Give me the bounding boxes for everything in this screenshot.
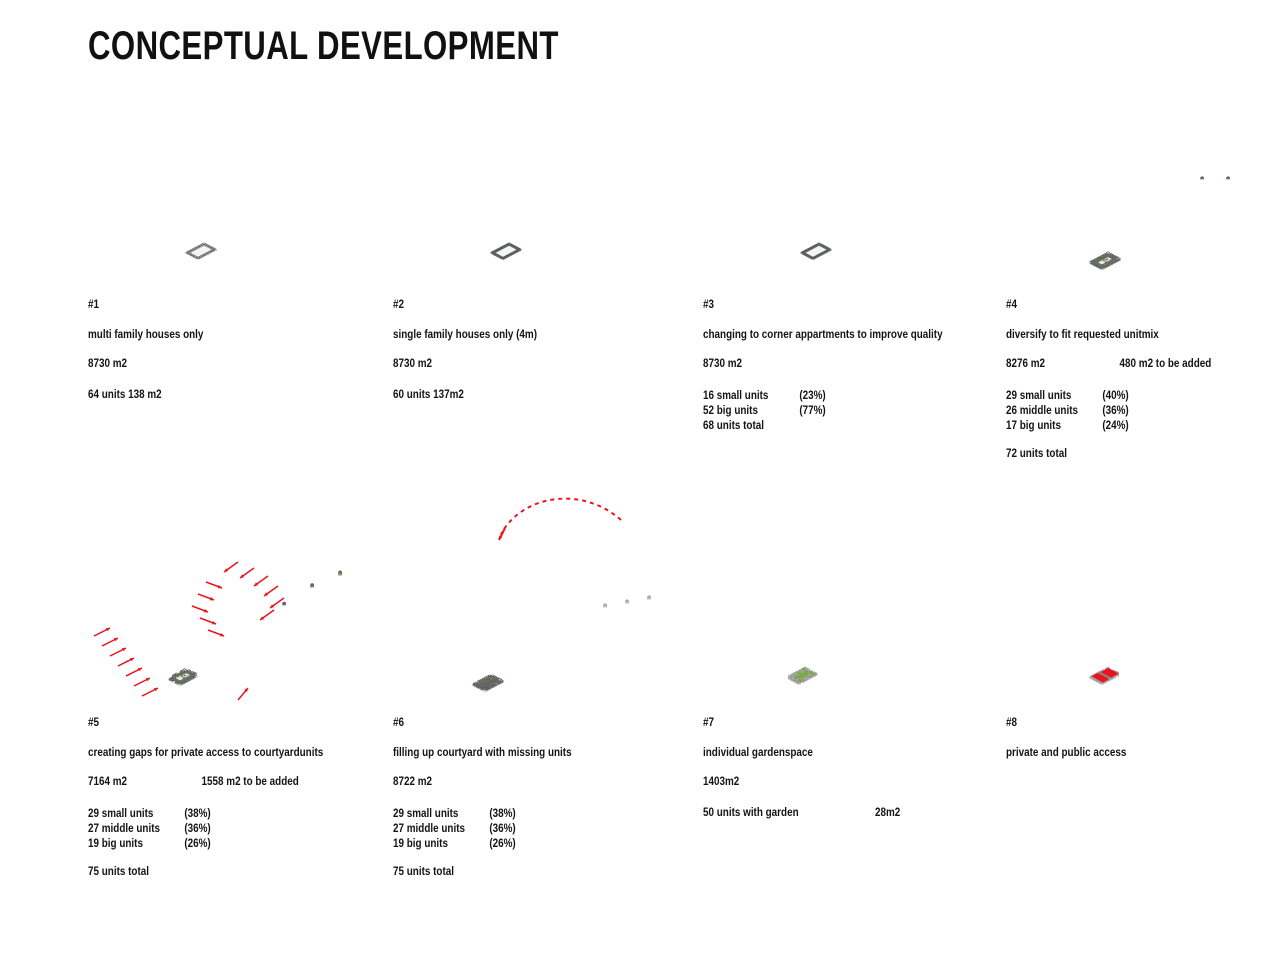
panel-area: 8722 m2 (393, 777, 651, 790)
panel-5: #5 creating gaps for private access to c… (88, 510, 388, 710)
panel-2: #2 single family houses only (4m) 8730 m… (393, 108, 693, 293)
caption-5: #5 creating gaps for private access to c… (88, 718, 388, 879)
panel-description: individual gardenspace (703, 748, 961, 760)
figure-3 (703, 108, 1003, 293)
axon-massing (473, 675, 503, 692)
diagram-access-red-grey (1006, 525, 1280, 710)
satellite-stack (311, 583, 314, 587)
presentation-board: CONCEPTUAL DEVELOPMENT #1 multi family h… (0, 0, 1280, 960)
panel-number: #3 (703, 300, 987, 312)
axon-massing (186, 243, 216, 259)
stat-row: 19 big units (26%) (393, 838, 651, 853)
panel-description: creating gaps for private access to cour… (88, 748, 346, 760)
stat-row: 68 units total (703, 420, 987, 435)
panel-area-extra: 480 m2 to be added (1120, 359, 1212, 371)
figure-5 (88, 510, 388, 710)
diagram-gaps-arrows (88, 510, 388, 710)
panel-area: 8730 m2 (703, 359, 987, 372)
panel-description: changing to corner appartments to improv… (703, 330, 987, 342)
diagram-perimeter-block-white (88, 108, 388, 293)
panel-description: private and public access (1006, 748, 1264, 760)
figure-2 (393, 108, 693, 293)
axon-massing (788, 667, 817, 684)
panel-stats: 16 small units (23%) 52 big units (77%) … (703, 390, 1033, 435)
diagram-unitmix-colored (1006, 108, 1280, 293)
panel-area: 1403m2 (703, 777, 961, 790)
diagram-perimeter-block-corners (703, 108, 1003, 293)
axon-massing (168, 669, 198, 687)
panel-summary-extra: 28m2 (875, 808, 900, 820)
satellite-stack (1201, 177, 1230, 180)
panel-summary: 64 units 138 m2 (88, 390, 346, 403)
panel-area: 7164 m2 1558 m2 to be added (88, 777, 346, 790)
stat-row: 29 small units (38%) (393, 808, 651, 823)
diagram-gardens-green (703, 525, 1003, 710)
stat-row: 27 middle units (36%) (88, 823, 346, 838)
panel-number: #8 (1006, 718, 1264, 730)
panel-8: #8 private and public access (1006, 525, 1280, 710)
stat-row: 26 middle units (36%) (1006, 405, 1264, 420)
panel-area: 8730 m2 (393, 359, 651, 372)
panel-number: #5 (88, 718, 346, 730)
panel-number: #4 (1006, 300, 1264, 312)
figure-1 (88, 108, 388, 293)
panel-description: multi family houses only (88, 330, 346, 342)
page-title: CONCEPTUAL DEVELOPMENT (88, 24, 559, 69)
panel-description: diversify to fit requested unitmix (1006, 330, 1264, 342)
panel-number: #2 (393, 300, 651, 312)
stat-row: 52 big units (77%) (703, 405, 987, 420)
stat-row: 16 small units (23%) (703, 390, 987, 405)
stat-row: 29 small units (38%) (88, 808, 346, 823)
transfer-arrow (499, 499, 621, 540)
panel-7: #7 individual gardenspace 1403m2 50 unit… (703, 525, 1003, 710)
panel-area: 8276 m2 480 m2 to be added (1006, 359, 1264, 372)
outline-stacks (604, 596, 651, 608)
panel-summary: 50 units with garden 28m2 (703, 808, 961, 821)
panel-number: #6 (393, 718, 651, 730)
figure-6 (393, 480, 693, 710)
panel-3: #3 changing to corner appartments to imp… (703, 108, 1033, 293)
axon-massing (1090, 667, 1119, 684)
panel-total: 75 units total (393, 867, 651, 879)
panel-area-extra: 1558 m2 to be added (202, 777, 299, 789)
axon-massing (491, 243, 521, 260)
caption-1: #1 multi family houses only 8730 m2 64 u… (88, 300, 388, 421)
panel-description: single family houses only (4m) (393, 330, 651, 342)
panel-1: #1 multi family houses only 8730 m2 64 u… (88, 108, 388, 293)
satellite-stack (339, 571, 342, 576)
caption-4: #4 diversify to fit requested unitmix 82… (1006, 300, 1280, 461)
panel-stats: 29 small units (38%) 27 middle units (36… (88, 808, 388, 853)
panel-6: #6 filling up courtyard with missing uni… (393, 480, 693, 710)
figure-4 (1006, 108, 1280, 293)
caption-2: #2 single family houses only (4m) 8730 m… (393, 300, 693, 421)
stat-row: 17 big units (24%) (1006, 420, 1264, 435)
panel-description: filling up courtyard with missing units (393, 748, 651, 760)
panel-summary: 60 units 137m2 (393, 390, 651, 403)
stat-row: 27 middle units (36%) (393, 823, 651, 838)
panel-4: #4 diversify to fit requested unitmix 82… (1006, 108, 1280, 293)
diagram-perimeter-block-blue (393, 108, 693, 293)
panel-area: 8730 m2 (88, 359, 346, 372)
caption-6: #6 filling up courtyard with missing uni… (393, 718, 693, 879)
stat-row: 29 small units (40%) (1006, 390, 1264, 405)
panel-number: #7 (703, 718, 961, 730)
panel-stats: 29 small units (38%) 27 middle units (36… (393, 808, 693, 853)
figure-8 (1006, 525, 1280, 710)
axon-massing (801, 243, 831, 260)
axon-massing (1090, 252, 1120, 270)
caption-7: #7 individual gardenspace 1403m2 50 unit… (703, 718, 1003, 839)
diagram-courtyard-filled (393, 480, 693, 710)
satellite-stack (283, 602, 286, 605)
stat-row: 19 big units (26%) (88, 838, 346, 853)
panel-stats: 29 small units (40%) 26 middle units (36… (1006, 390, 1280, 435)
caption-8: #8 private and public access (1006, 718, 1280, 777)
figure-7 (703, 525, 1003, 710)
caption-3: #3 changing to corner appartments to imp… (703, 300, 1033, 435)
panel-total: 75 units total (88, 867, 346, 879)
panel-number: #1 (88, 300, 346, 312)
panel-total: 72 units total (1006, 449, 1264, 461)
